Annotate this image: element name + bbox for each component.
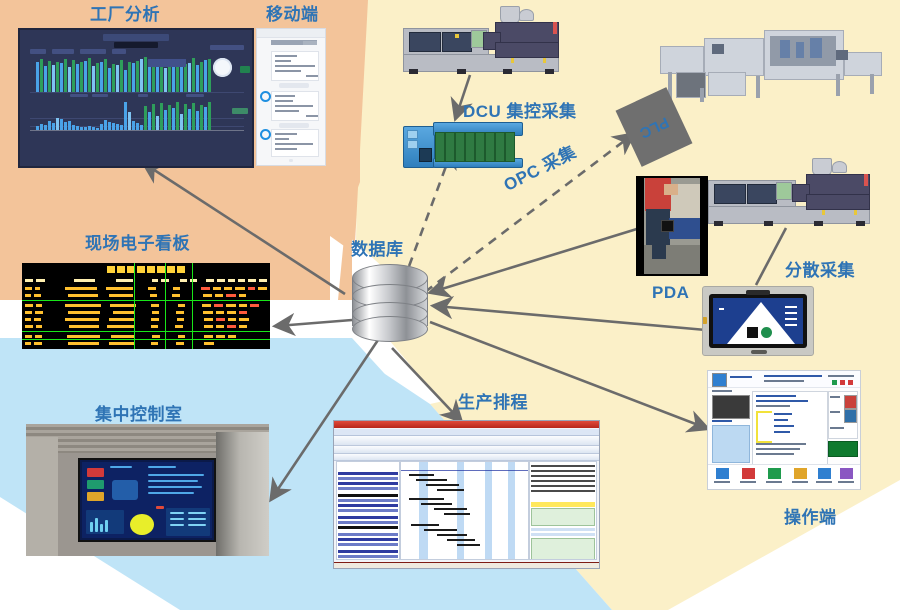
injection-molding-machine-right [702, 158, 870, 230]
label-factory-analysis: 工厂分析 [90, 6, 160, 23]
billboard-grid-line [22, 331, 270, 332]
toolbar-icon[interactable] [818, 468, 831, 479]
mobile-action-button[interactable] [303, 41, 317, 45]
dashboard-axis-label [92, 94, 108, 97]
tablet-camera-notch [746, 290, 770, 295]
pda-photo [636, 176, 708, 276]
injection-molding-machine-top [395, 6, 560, 76]
operator-logo-icon [712, 373, 727, 387]
operator-worker-photo [844, 409, 857, 423]
mobile-divider [279, 123, 309, 128]
billboard-data-row [25, 304, 267, 307]
tablet-bottom-port [751, 350, 767, 354]
label-onsite-board: 现场电子看板 [85, 235, 190, 252]
dashboard-tooltip [148, 59, 186, 67]
operator-status-icon [840, 380, 845, 385]
tablet-screen[interactable] [713, 298, 803, 344]
mobile-message-card[interactable] [271, 129, 319, 157]
operator-toolbar[interactable] [708, 464, 860, 489]
operator-terminal-app[interactable] [707, 370, 861, 490]
kpi-tile [87, 468, 104, 477]
tablet-text-row [785, 306, 797, 308]
toolbar-icon[interactable] [840, 468, 853, 479]
billboard-grid-line [22, 339, 270, 340]
billboard-grid-line [22, 300, 270, 301]
mobile-message-card[interactable] [271, 91, 319, 121]
billboard-header-row [25, 279, 267, 282]
dashboard-filter-chip[interactable] [52, 49, 74, 54]
mobile-app-screenshot[interactable] [256, 28, 326, 166]
tablet-bezel [709, 294, 807, 348]
kpi-tile [87, 480, 104, 489]
label-operator-terminal: 操作端 [784, 509, 837, 526]
automated-production-line [660, 28, 880, 104]
label-database: 数据库 [351, 241, 404, 258]
toolbar-icon[interactable] [742, 468, 755, 479]
gantt-timeline[interactable] [400, 461, 529, 560]
led-billboard-screenshot [22, 263, 270, 349]
operator-confirm-button[interactable] [828, 441, 858, 457]
dashboard-subtitle-bar [114, 42, 158, 48]
billboard-grid-line [192, 263, 193, 349]
rugged-tablet[interactable] [702, 286, 814, 356]
control-room-display [78, 458, 216, 542]
gantt-menu-bar[interactable] [334, 429, 599, 436]
billboard-title [107, 266, 185, 273]
gantt-status-bar [334, 562, 599, 568]
dashboard-right-tag [232, 108, 248, 114]
gantt-info-panel [531, 538, 595, 560]
mobile-message-card[interactable] [271, 51, 319, 81]
tablet-text-row [785, 318, 797, 320]
toolbar-icon[interactable] [794, 468, 807, 479]
billboard-data-row [25, 311, 267, 314]
dashboard-chart-lower [36, 100, 211, 130]
billboard-data-row [25, 325, 267, 328]
billboard-grid-line [134, 263, 135, 349]
mobile-divider [279, 83, 309, 88]
database-cylinder [350, 264, 432, 340]
dashboard-axis-label [138, 94, 148, 97]
operator-status-icon [832, 380, 837, 385]
tablet-qr-code [747, 327, 758, 338]
label-dcu-collection: DCU 集控采集 [463, 103, 577, 120]
operator-status-icon [848, 380, 853, 385]
factory-analysis-dashboard[interactable] [18, 28, 254, 168]
gantt-info-panel [531, 508, 595, 526]
gantt-title-bar [334, 421, 599, 428]
label-pda: PDA [652, 284, 689, 301]
billboard-data-row [25, 342, 267, 345]
billboard-data-row [25, 318, 267, 321]
billboard-data-row [25, 287, 267, 290]
dashboard-legend-chip [210, 45, 244, 50]
tablet-text-row [785, 324, 797, 326]
tablet-logo-triangle [727, 302, 795, 344]
operator-highlight-box [756, 411, 772, 443]
dashboard-axis-label [70, 94, 88, 97]
label-production-scheduling: 生产排程 [458, 394, 528, 411]
dashboard-filter-chip[interactable] [80, 49, 106, 54]
production-scheduling-app[interactable] [333, 420, 600, 569]
dashboard-right-tag [240, 66, 250, 73]
tablet-text-row [719, 308, 724, 310]
dashboard-mascot-icon [213, 58, 232, 77]
operator-part-photo [712, 395, 750, 419]
toolbar-icon[interactable] [716, 468, 729, 479]
dashboard-axis-label [186, 94, 204, 97]
gantt-detail-panel[interactable] [529, 461, 597, 560]
gantt-toolbar[interactable] [334, 454, 599, 461]
gantt-toolbar[interactable] [334, 446, 599, 454]
gantt-task-list[interactable] [336, 461, 400, 560]
dcu-collection-module [403, 120, 521, 168]
mobile-avatar [260, 129, 271, 140]
dashboard-title-bar [103, 34, 169, 41]
billboard-grid-line [165, 263, 166, 349]
mobile-status-bar [257, 29, 325, 38]
control-room-highlight [130, 514, 154, 535]
mobile-page-indicator [289, 159, 293, 162]
billboard-data-row [25, 335, 267, 338]
gantt-toolbar[interactable] [334, 436, 599, 446]
label-distributed-collection: 分散采集 [785, 262, 855, 279]
tablet-text-row [785, 312, 797, 314]
label-mobile: 移动端 [266, 6, 319, 23]
kpi-tile [87, 492, 104, 501]
label-central-control-room: 集中控制室 [95, 406, 183, 423]
tablet-antenna [702, 317, 707, 324]
billboard-data-row [25, 294, 267, 297]
operator-info-panel [712, 425, 750, 463]
dashboard-filter-chip[interactable] [30, 49, 46, 54]
mobile-avatar [260, 91, 271, 102]
dashboard-filter-chip[interactable] [112, 49, 126, 54]
operator-worker-photo [844, 395, 857, 409]
gantt-highlight-row [531, 502, 595, 507]
tablet-brand-mark [761, 327, 772, 338]
plc-label: PLC [637, 113, 671, 141]
architecture-diagram: PLC [0, 0, 900, 610]
toolbar-icon[interactable] [768, 468, 781, 479]
control-room-photo [26, 424, 269, 556]
